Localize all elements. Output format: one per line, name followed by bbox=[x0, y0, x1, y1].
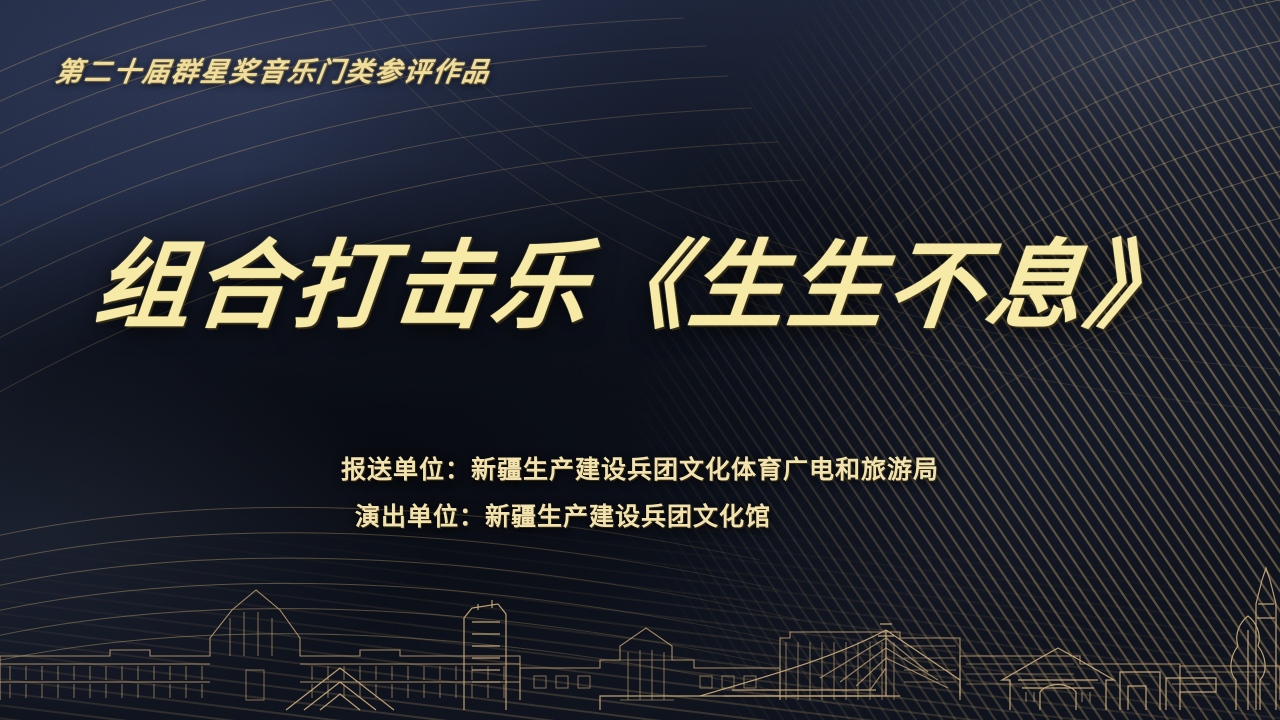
credit-line-submitting-unit: 报送单位：新疆生产建设兵团文化体育广电和旅游局 bbox=[0, 458, 1280, 483]
credits-block: 报送单位：新疆生产建设兵团文化体育广电和旅游局 演出单位：新疆生产建设兵团文化馆 bbox=[0, 458, 1280, 530]
presentation-slide: 第二十届群星奖音乐门类参评作品 组合打击乐《生生不息》 报送单位：新疆生产建设兵… bbox=[0, 0, 1280, 720]
credit-text-submitting-unit: 报送单位：新疆生产建设兵团文化体育广电和旅游局 bbox=[341, 458, 939, 483]
page-title: 组合打击乐《生生不息》 bbox=[0, 236, 1280, 338]
eyebrow-heading: 第二十届群星奖音乐门类参评作品 bbox=[53, 50, 493, 89]
credit-line-performing-unit: 演出单位：新疆生产建设兵团文化馆 bbox=[0, 505, 1280, 530]
credit-text-performing-unit: 演出单位：新疆生产建设兵团文化馆 bbox=[355, 505, 925, 530]
